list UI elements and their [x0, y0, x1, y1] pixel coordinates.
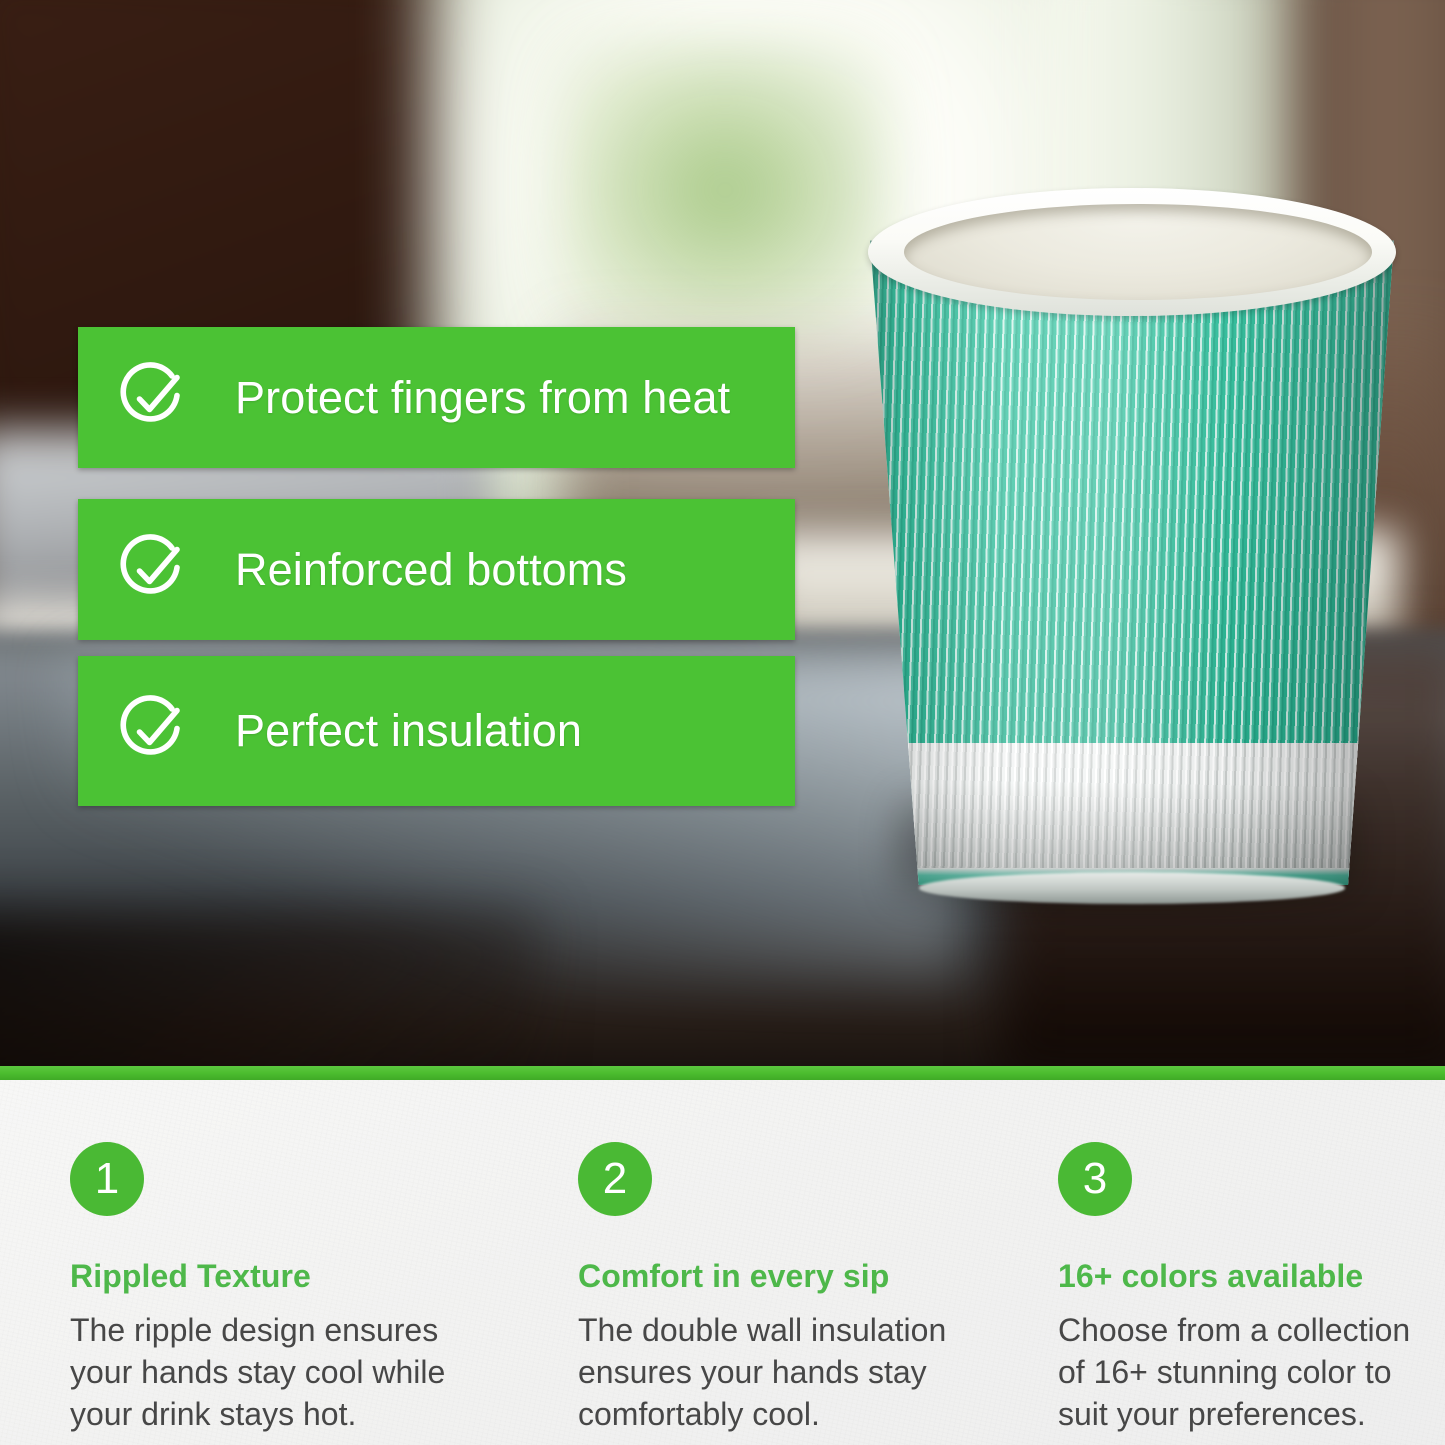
- cup-body: [862, 224, 1402, 889]
- product-photo-scene: Protect fingers from heat Reinforced bot…: [0, 0, 1445, 1066]
- feature-banner: Perfect insulation: [78, 656, 795, 806]
- detail-column-3: 3 16+ colors available Choose from a col…: [1058, 1142, 1418, 1436]
- detail-column-1: 1 Rippled Texture The ripple design ensu…: [70, 1142, 500, 1436]
- step-number-text: 1: [95, 1157, 119, 1201]
- detail-heading: Comfort in every sip: [578, 1258, 998, 1295]
- details-panel: 1 Rippled Texture The ripple design ensu…: [0, 1080, 1445, 1445]
- step-number-badge: 3: [1058, 1142, 1132, 1216]
- step-number-text: 2: [603, 1157, 627, 1201]
- feature-banner: Protect fingers from heat: [78, 327, 795, 468]
- feature-banner: Reinforced bottoms: [78, 499, 795, 640]
- infographic-canvas: Protect fingers from heat Reinforced bot…: [0, 0, 1445, 1445]
- feature-banner-label: Perfect insulation: [235, 705, 582, 757]
- cup-base-ellipse: [919, 872, 1345, 904]
- detail-body-text: The double wall insulation ensures your …: [578, 1309, 998, 1436]
- check-circle-icon: [116, 361, 190, 435]
- detail-column-2: 2 Comfort in every sip The double wall i…: [578, 1142, 998, 1436]
- detail-body-text: The ripple design ensures your hands sta…: [70, 1309, 500, 1436]
- cup-interior: [904, 204, 1372, 300]
- feature-banner-label: Protect fingers from heat: [235, 372, 730, 424]
- section-divider: [0, 1066, 1445, 1080]
- step-number-badge: 1: [70, 1142, 144, 1216]
- table-shadow-bottom-left: [0, 910, 540, 1066]
- detail-body-text: Choose from a collection of 16+ stunning…: [1058, 1309, 1418, 1436]
- step-number-badge: 2: [578, 1142, 652, 1216]
- background-greenery: [560, 40, 890, 340]
- product-cup: [862, 188, 1402, 903]
- feature-banner-label: Reinforced bottoms: [235, 544, 627, 596]
- cup-rim: [868, 188, 1396, 316]
- check-circle-icon: [116, 533, 190, 607]
- detail-heading: Rippled Texture: [70, 1258, 500, 1295]
- detail-heading: 16+ colors available: [1058, 1258, 1418, 1295]
- check-circle-icon: [116, 694, 190, 768]
- cup-vertical-shading: [862, 224, 1402, 889]
- step-number-text: 3: [1083, 1157, 1107, 1201]
